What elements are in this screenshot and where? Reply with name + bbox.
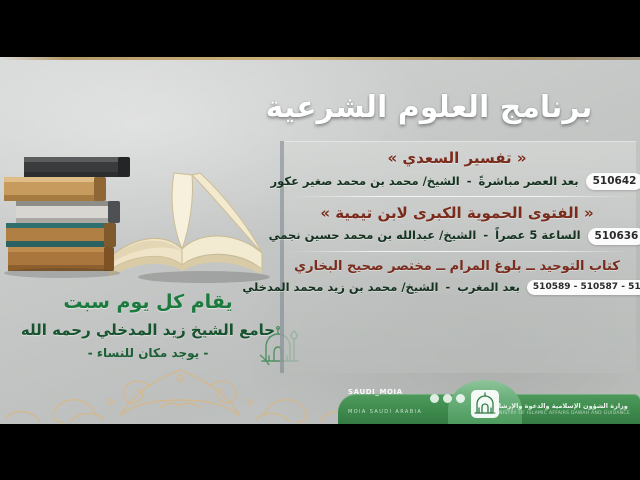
poster-canvas: برنامج العلوم الشرعية <box>0 57 640 424</box>
handle-primary: SAUDI_MOIA <box>348 388 403 396</box>
course-time: بعد العصر مباشرةً <box>479 175 579 189</box>
youtube-icon[interactable] <box>443 394 452 403</box>
course-instructor: الشيخ/ عبدالله بن محمد حسين نجمي <box>269 229 477 243</box>
letterbox-bottom <box>0 424 640 480</box>
left-column: يقام كل يوم سبت جامع الشيخ زيد المدخلي ر… <box>0 119 296 419</box>
course-code-badge[interactable]: 510589 - 510587 - 510631 <box>527 280 640 295</box>
ministry-footer-banner: SAUDI_MOIA MOIA SAUDI ARABIA وزارة الشؤو… <box>330 380 640 424</box>
social-handle: SAUDI_MOIA MOIA SAUDI ARABIA <box>348 379 422 417</box>
gold-top-rule <box>0 57 640 60</box>
course-title: « الفتوى الحموية الكبرى لابن تيمية » <box>290 203 624 223</box>
handle-secondary: MOIA SAUDI ARABIA <box>348 409 422 415</box>
ministry-name-en: MINISTRY OF ISLAMIC AFFAIRS DAWAH AND GU… <box>493 411 630 417</box>
course-separator: - <box>467 175 472 189</box>
course-separator: - <box>446 281 451 295</box>
course-code-badge[interactable]: 510636 <box>588 228 640 245</box>
ministry-name-ar: وزارة الشؤون الإسلامية والدعوة والإرشاد <box>493 402 630 411</box>
course-time: الساعة 5 عصراً <box>495 229 580 243</box>
venue-line: جامع الشيخ زيد المدخلي رحمه الله <box>0 321 296 341</box>
stack-of-books-illustration <box>4 119 292 291</box>
facebook-icon[interactable] <box>430 394 439 403</box>
banner-social-block: SAUDI_MOIA MOIA SAUDI ARABIA <box>348 379 465 417</box>
course-meta: الشيخ/ عبدالله بن محمد حسين نجمي - الساع… <box>290 228 624 245</box>
course-separator: - <box>483 229 488 243</box>
women-section-note: - يوجد مكان للنساء - <box>0 346 296 362</box>
video-frame: برنامج العلوم الشرعية <box>0 0 640 480</box>
course-instructor: الشيخ/ محمد بن محمد صغير عكور <box>271 175 460 189</box>
course-time: بعد المغرب <box>457 281 520 295</box>
schedule-day-line: يقام كل يوم سبت <box>0 291 296 315</box>
left-text-block: يقام كل يوم سبت جامع الشيخ زيد المدخلي ر… <box>0 291 296 362</box>
course-meta: الشيخ/ محمد بن محمد صغير عكور - بعد العص… <box>290 173 624 190</box>
course-code-badge[interactable]: 510642 <box>586 173 640 190</box>
course-instructor: الشيخ/ محمد بن زيد محمد المدخلي <box>242 281 438 295</box>
ministry-name-block: وزارة الشؤون الإسلامية والدعوة والإرشاد … <box>493 402 630 417</box>
schedule-panel: « تفسير السعدي » الشيخ/ محمد بن محمد صغي… <box>280 141 636 373</box>
page-title: برنامج العلوم الشرعية <box>240 91 618 124</box>
course-meta: الشيخ/ محمد بن زيد محمد المدخلي - بعد ال… <box>290 280 624 295</box>
course-row[interactable]: كتاب التوحيد ــ بلوغ المرام ــ مختصر صحي… <box>284 251 636 301</box>
letterbox-top <box>0 0 640 57</box>
course-row[interactable]: « الفتوى الحموية الكبرى لابن تيمية » الش… <box>284 196 636 251</box>
twitter-icon[interactable] <box>456 394 465 403</box>
course-title: « تفسير السعدي » <box>290 148 624 168</box>
course-title: كتاب التوحيد ــ بلوغ المرام ــ مختصر صحي… <box>290 258 624 276</box>
course-row[interactable]: « تفسير السعدي » الشيخ/ محمد بن محمد صغي… <box>284 141 636 196</box>
